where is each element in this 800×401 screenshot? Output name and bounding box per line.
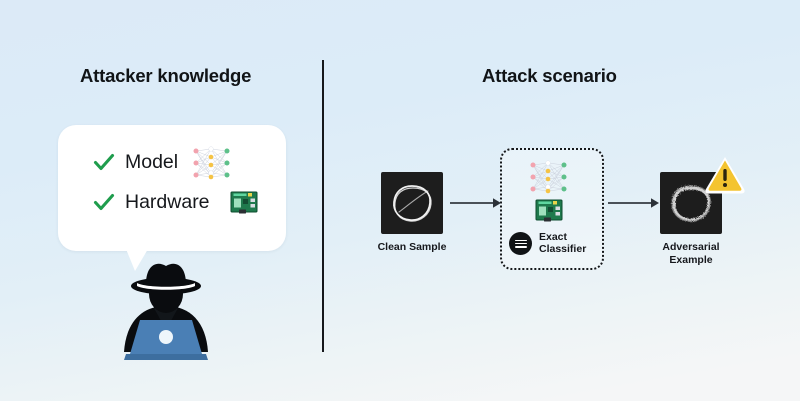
attacker-knowledge-bubble <box>58 125 286 251</box>
ellipse-sketch-clean <box>381 172 443 234</box>
hacker-with-laptop-icon <box>110 258 222 362</box>
raspberry-pi-board-icon <box>229 190 259 218</box>
panel-divider <box>322 60 324 352</box>
clean-sample-caption: Clean Sample <box>366 241 458 254</box>
figure-canvas: Attacker knowledge Model <box>0 0 800 401</box>
hamburger-circle-icon <box>509 232 532 255</box>
check-icon <box>92 190 116 214</box>
neural-network-icon <box>526 158 570 196</box>
left-panel-title: Attacker knowledge <box>80 65 251 87</box>
adversarial-example-caption: Adversarial Example <box>645 241 737 266</box>
raspberry-pi-board-icon <box>534 198 564 226</box>
knowledge-item-label: Hardware <box>125 191 210 214</box>
check-icon <box>92 150 116 174</box>
clean-sample-tile <box>381 172 443 234</box>
right-panel-title: Attack scenario <box>482 65 617 87</box>
arrow-clean-to-classifier <box>450 196 502 210</box>
warning-triangle-icon <box>703 153 747 195</box>
arrow-classifier-to-adversarial <box>608 196 660 210</box>
exact-classifier-caption: Exact Classifier <box>539 231 586 255</box>
neural-network-icon <box>189 144 233 182</box>
knowledge-item-label: Model <box>125 151 178 174</box>
knowledge-item-model: Model <box>92 150 178 174</box>
knowledge-item-hardware: Hardware <box>92 190 210 214</box>
